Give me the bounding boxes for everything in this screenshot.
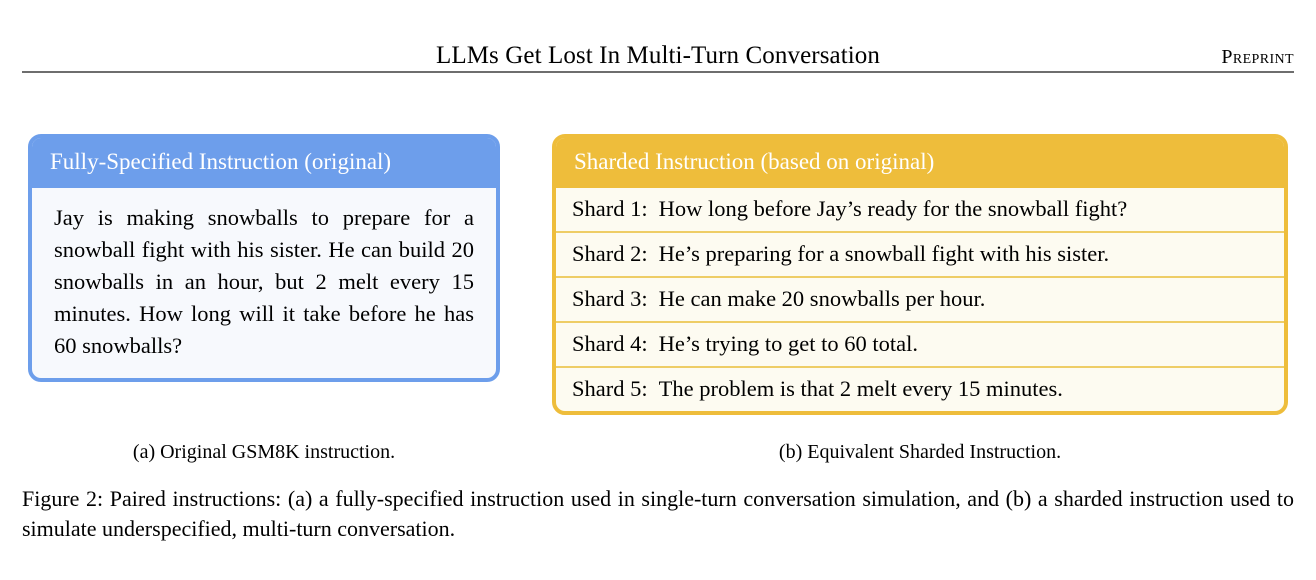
panel-left-title: Fully-Specified Instruction (original) xyxy=(32,138,496,188)
shard-text: How long before Jay’s ready for the snow… xyxy=(659,194,1270,224)
shard-row: Shard 4: He’s trying to get to 60 total. xyxy=(556,323,1284,368)
shard-text: He’s preparing for a snowball fight with… xyxy=(659,239,1270,269)
page-title: LLMs Get Lost In Multi-Turn Conversation xyxy=(22,40,1294,72)
shard-row: Shard 3: He can make 20 snowballs per ho… xyxy=(556,278,1284,323)
header-divider xyxy=(22,71,1294,73)
panel-left-body-text: Jay is making snowballs to prepare for a… xyxy=(32,188,496,378)
shard-label: Shard 5: xyxy=(572,374,648,404)
shard-label: Shard 2: xyxy=(572,239,648,269)
panel-right-title: Sharded Instruction (based on original) xyxy=(556,138,1284,188)
figure-panels: Fully-Specified Instruction (original) J… xyxy=(0,134,1316,475)
panel-sharded-instruction: Sharded Instruction (based on original) … xyxy=(552,134,1288,415)
subcaption-a: (a) Original GSM8K instruction. xyxy=(28,439,500,465)
shard-list: Shard 1: How long before Jay’s ready for… xyxy=(556,188,1284,411)
panel-fully-specified-instruction: Fully-Specified Instruction (original) J… xyxy=(28,134,500,382)
page-running-head: LLMs Get Lost In Multi-Turn Conversation… xyxy=(22,40,1294,74)
shard-text: He’s trying to get to 60 total. xyxy=(659,329,1270,359)
figure-caption: Figure 2: Paired instructions: (a) a ful… xyxy=(22,484,1294,544)
preprint-badge: Preprint xyxy=(1221,42,1294,72)
subcaption-b: (b) Equivalent Sharded Instruction. xyxy=(552,439,1288,465)
shard-row: Shard 2: He’s preparing for a snowball f… xyxy=(556,233,1284,278)
shard-text: He can make 20 snowballs per hour. xyxy=(659,284,1270,314)
shard-label: Shard 4: xyxy=(572,329,648,359)
figure-2: Fully-Specified Instruction (original) J… xyxy=(0,134,1316,475)
shard-label: Shard 3: xyxy=(572,284,648,314)
shard-row: Shard 5: The problem is that 2 melt ever… xyxy=(556,368,1284,411)
shard-label: Shard 1: xyxy=(572,194,648,224)
shard-row: Shard 1: How long before Jay’s ready for… xyxy=(556,188,1284,233)
shard-text: The problem is that 2 melt every 15 minu… xyxy=(659,374,1270,404)
